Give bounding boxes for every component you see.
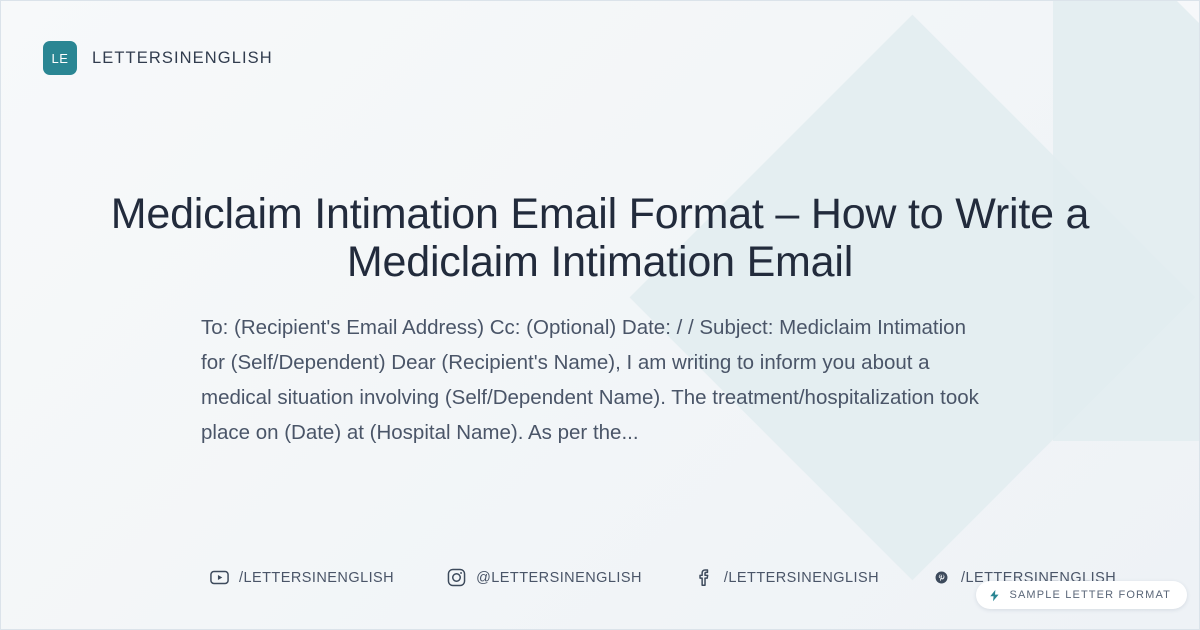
- facebook-icon: [694, 567, 715, 588]
- social-link-instagram[interactable]: @LETTERSINENGLISH: [446, 567, 642, 588]
- youtube-icon: [209, 567, 230, 588]
- brand-badge-icon: LE: [43, 41, 77, 75]
- brand-name: LETTERSINENGLISH: [92, 49, 273, 68]
- page-title: Mediclaim Intimation Email Format – How …: [101, 190, 1099, 286]
- lightning-bolt-icon: [988, 588, 1001, 603]
- pinterest-icon: [931, 567, 952, 588]
- social-label: /LETTERSINENGLISH: [724, 570, 879, 586]
- card-content: LE LETTERSINENGLISH Mediclaim Intimation…: [1, 1, 1199, 629]
- social-label: /LETTERSINENGLISH: [239, 570, 394, 586]
- social-label: @LETTERSINENGLISH: [476, 570, 642, 586]
- brand-logo[interactable]: LE LETTERSINENGLISH: [43, 41, 273, 75]
- social-link-facebook[interactable]: /LETTERSINENGLISH: [694, 567, 879, 588]
- status-badge-label: SAMPLE LETTER FORMAT: [1009, 589, 1171, 601]
- social-link-youtube[interactable]: /LETTERSINENGLISH: [209, 567, 394, 588]
- share-card: LE LETTERSINENGLISH Mediclaim Intimation…: [0, 0, 1200, 630]
- instagram-icon: [446, 567, 467, 588]
- status-badge[interactable]: SAMPLE LETTER FORMAT: [976, 581, 1187, 609]
- article-excerpt: To: (Recipient's Email Address) Cc: (Opt…: [201, 310, 991, 451]
